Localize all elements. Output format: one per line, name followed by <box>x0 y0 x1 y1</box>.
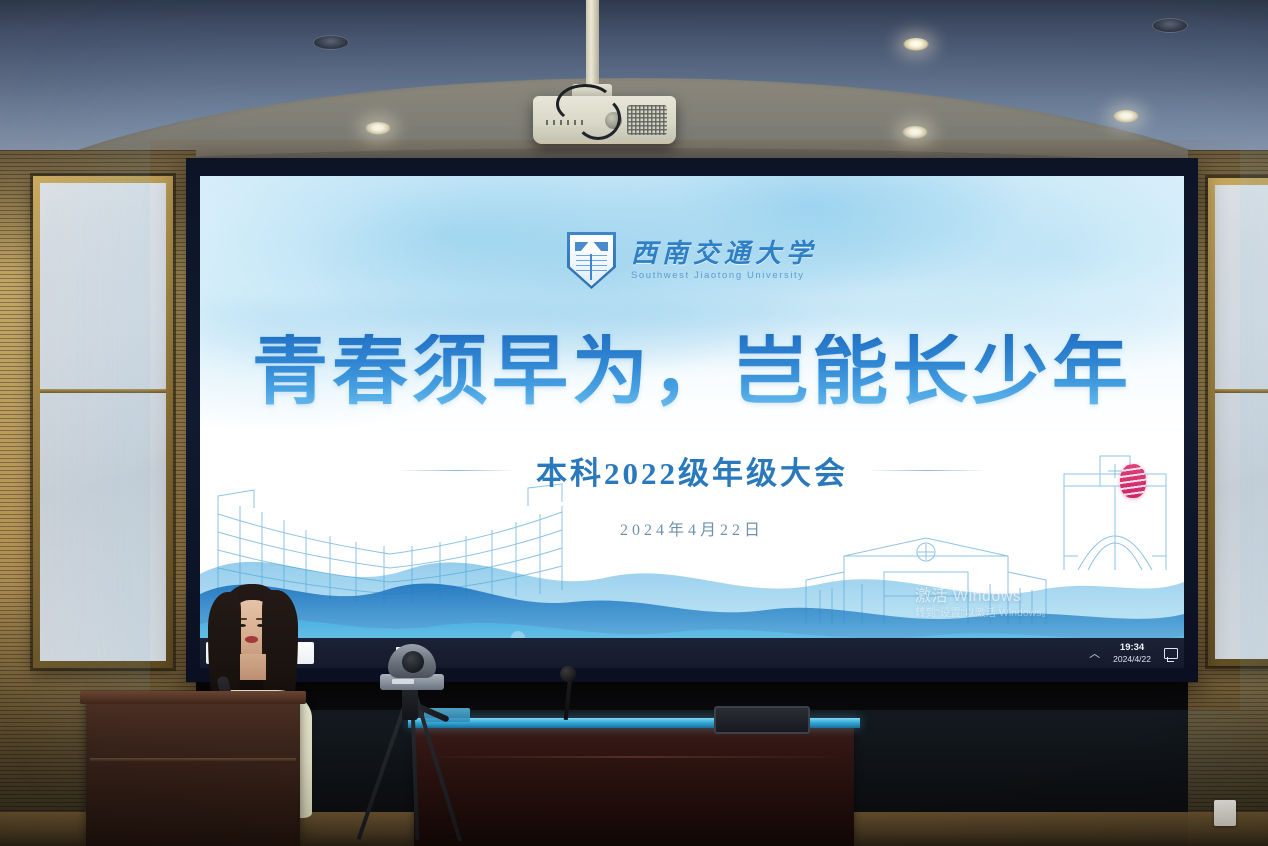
crest-inner-shield <box>570 235 613 286</box>
slide-subtitle-row: 本科2022级年级大会 <box>200 448 1184 493</box>
university-name-cn: 西南交通大学 <box>631 241 817 267</box>
decorative-rule-left <box>398 470 516 471</box>
tripod-head <box>402 686 418 720</box>
whiteboard-panel-left <box>33 176 173 668</box>
camera-label <box>392 679 414 684</box>
shield-crest-icon <box>567 232 616 289</box>
wall-outlet-icon <box>1214 800 1236 826</box>
crest-chevron <box>580 239 602 252</box>
ceiling-speaker-icon <box>1152 18 1188 33</box>
crest-stem <box>590 254 592 280</box>
ptz-camera-on-tripod <box>352 644 468 846</box>
slide-subtitle: 本科2022级年级大会 <box>536 448 848 493</box>
panel-glare <box>40 183 166 661</box>
camera-lens-icon <box>402 651 424 673</box>
university-name-en: Southwest Jiaotong University <box>631 271 817 281</box>
chair-backrest <box>714 706 810 734</box>
slide-date: 2024年4月22日 <box>200 516 1184 540</box>
downlight-icon <box>1113 110 1139 123</box>
windows-taskbar[interactable]: ︿ 19:34 2024/4/22 <box>200 638 1184 668</box>
microphone-head-icon <box>560 666 576 682</box>
clock-time: 19:34 <box>1113 642 1151 653</box>
ceiling-speaker-icon <box>313 35 349 50</box>
projection-screen[interactable]: 西南交通大学 Southwest Jiaotong University 青春须… <box>200 176 1184 668</box>
chevron-up-icon[interactable]: ︿ <box>1089 645 1100 661</box>
projector-vent-grille <box>627 105 667 135</box>
presenter-neck <box>240 654 266 680</box>
projector-cable <box>575 96 621 140</box>
downlight-icon <box>903 38 929 51</box>
slide-title: 青春须早为，岂能长少年 <box>200 334 1184 410</box>
red-seal-stamp-icon <box>1120 464 1146 498</box>
taskbar-system-tray: ︿ 19:34 2024/4/22 <box>1089 638 1178 668</box>
presenter-mouth <box>245 636 258 643</box>
conference-table-seam <box>420 756 848 758</box>
taskbar-clock[interactable]: 19:34 2024/4/22 <box>1113 642 1151 663</box>
downlight-icon <box>365 122 391 135</box>
scene-root: 西南交通大学 Southwest Jiaotong University 青春须… <box>0 0 1268 846</box>
conference-table <box>414 726 854 846</box>
wooden-lectern <box>86 700 300 846</box>
gooseneck-microphone <box>564 676 573 720</box>
lectern-top-surface <box>80 691 306 704</box>
university-name-block: 西南交通大学 Southwest Jiaotong University <box>631 241 817 281</box>
notification-center-icon[interactable] <box>1164 648 1178 659</box>
whiteboard-panel-right <box>1208 178 1268 666</box>
clock-date: 2024/4/22 <box>1113 654 1151 664</box>
lectern-edge <box>90 758 296 762</box>
decorative-rule-right <box>868 470 986 471</box>
panel-glare <box>1215 185 1268 659</box>
university-logo: 西南交通大学 Southwest Jiaotong University <box>200 232 1184 289</box>
projector-mount-pole <box>586 0 599 92</box>
downlight-icon <box>902 126 928 139</box>
